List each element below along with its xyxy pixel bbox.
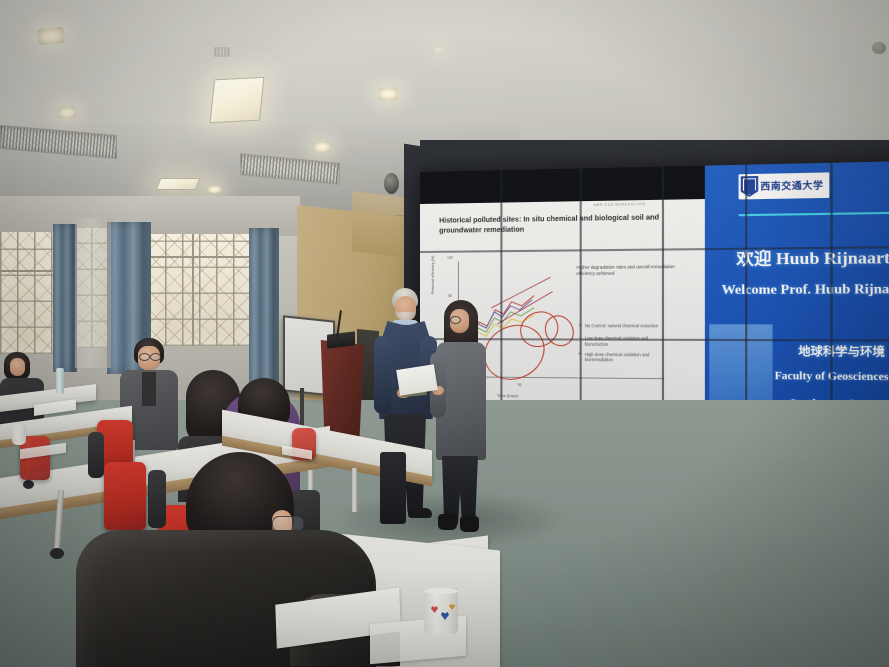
attendee-face [10, 358, 25, 376]
cup-heart-icon [441, 612, 449, 620]
downlight-5 [208, 186, 221, 193]
host-boot-left [438, 514, 457, 530]
downlight-4 [314, 142, 331, 153]
table-caster [50, 548, 64, 559]
downlight-1 [37, 27, 64, 45]
curtain-right [249, 228, 279, 396]
ceiling-speaker-icon [384, 173, 399, 194]
slide-title: Historical polluted sites: In situ chemi… [439, 214, 666, 236]
curtain-left [53, 224, 77, 372]
legend-item: + No Control: natural chemical reduction [578, 323, 673, 330]
attendee-glasses-icon [139, 353, 150, 361]
ceiling-panel-light-1 [209, 77, 264, 124]
window-grille-right [148, 234, 256, 346]
host-figure [430, 300, 492, 532]
window-right [148, 234, 256, 346]
downlight-6 [433, 46, 443, 53]
cup-rim [424, 588, 458, 594]
window-left [0, 232, 58, 354]
window-grille-left [0, 232, 58, 354]
legend-item: + High dose chemical oxidation and biore… [578, 351, 673, 362]
cup-heart-icon [431, 606, 438, 613]
cup-heart-icon [449, 604, 455, 610]
chart-ytick-top: 100 [447, 256, 453, 260]
presenter-arm-left [374, 336, 391, 414]
slide-header-small: MBR-ESD REMEDIATION [594, 202, 646, 207]
ceiling-sensor-icon [872, 42, 886, 54]
chart-annotation-text: Higher degradation rates and overall rem… [576, 264, 675, 276]
lecture-hall-photo: Historical polluted sites: In situ chemi… [0, 0, 889, 667]
legend-label: No Control: natural chemical reduction [585, 323, 658, 328]
attendee-glasses-icon [150, 353, 161, 361]
host-boot-right [460, 516, 479, 532]
hvac-vent-3 [214, 47, 230, 57]
faculty-line-cn: 地球科学与环境 [798, 343, 885, 360]
wall-pillar [75, 218, 111, 368]
host-glasses-icon [450, 316, 461, 324]
downlight-3 [378, 87, 399, 100]
ceiling-panel-light-2 [156, 178, 201, 190]
table-caster [23, 480, 34, 489]
paper-cup-with-hearts [424, 588, 458, 634]
presenter-shoe-right [408, 508, 432, 518]
standing-person-legs [380, 452, 406, 524]
water-bottle [56, 368, 64, 394]
swjtu-logo-text: 西南交通大学 [760, 178, 823, 193]
cup-on-left-table [12, 425, 26, 445]
downlight-2 [58, 106, 77, 118]
chart-legend: + No Control: natural chemical reduction… [578, 323, 673, 368]
banner-divider [738, 211, 889, 216]
legend-label: High dose chemical oxidation and bioreme… [585, 352, 673, 363]
swjtu-emblem-icon [741, 176, 759, 197]
swjtu-logo: 西南交通大学 [738, 172, 829, 199]
attendee-shirt [142, 372, 156, 406]
